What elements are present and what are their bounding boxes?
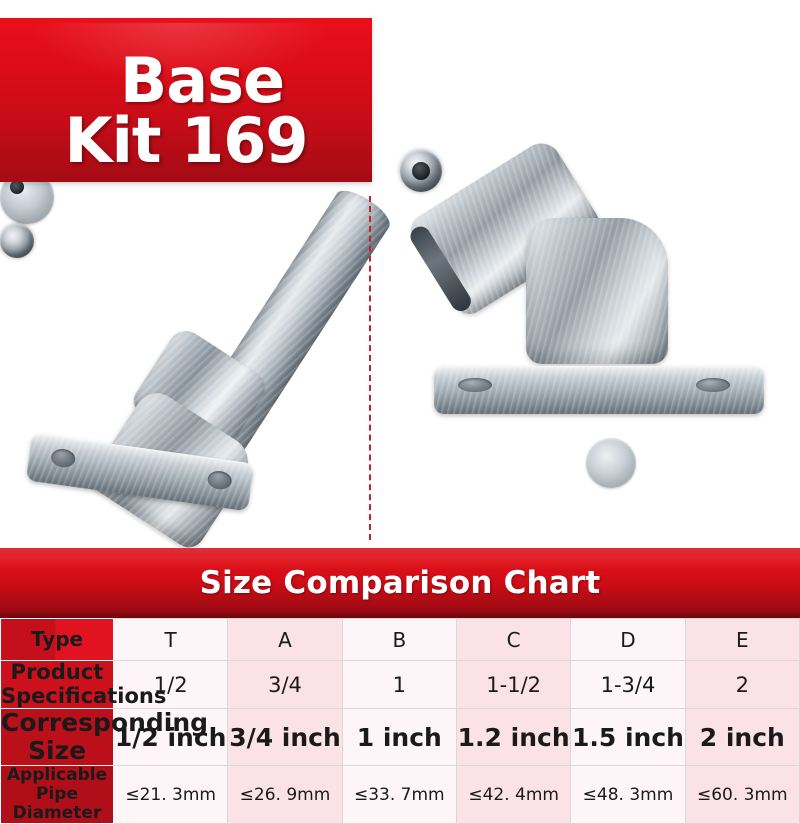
title-banner: Base Kit 169 xyxy=(0,18,372,182)
mounting-hole xyxy=(207,470,233,491)
cell-spec-e: 2 xyxy=(685,661,799,709)
mounting-hole xyxy=(50,448,76,469)
row-label-product-specifications: Product Specifications xyxy=(1,661,114,709)
cell-type-b: B xyxy=(342,619,456,661)
table-row: Product Specifications 1/2 3/4 1 1-1/2 1… xyxy=(1,661,800,709)
cell-size-d: 1.5 inch xyxy=(571,709,685,766)
cell-spec-b: 1 xyxy=(342,661,456,709)
banner-title-line-1: Base xyxy=(0,50,388,112)
set-screw-icon xyxy=(0,224,34,258)
cell-diameter-b: ≤33. 7mm xyxy=(342,766,456,824)
set-screw-icon xyxy=(400,150,442,192)
cell-type-e: E xyxy=(685,619,799,661)
mounting-hole xyxy=(458,378,492,392)
base-flange-plate xyxy=(434,366,764,414)
size-chart-header: Size Comparison Chart xyxy=(0,548,800,618)
cell-diameter-d: ≤48. 3mm xyxy=(571,766,685,824)
mounting-hole xyxy=(696,378,730,392)
row-label-applicable-pipe-diameter: Applicable Pipe Diameter xyxy=(1,766,114,824)
size-comparison-table: Type T A B C D E Product Specifications … xyxy=(0,618,800,824)
table-row: Applicable Pipe Diameter ≤21. 3mm ≤26. 9… xyxy=(1,766,800,824)
cell-size-e: 2 inch xyxy=(685,709,799,766)
product-image-left xyxy=(0,170,372,540)
product-photo-area: Base Kit 169 xyxy=(0,0,800,548)
cell-type-d: D xyxy=(571,619,685,661)
row-label-type: Type xyxy=(1,619,114,661)
photo-divider xyxy=(369,196,371,540)
product-image-right xyxy=(400,150,800,450)
banner-title-line-2: Kit 169 xyxy=(0,110,372,172)
sleeve-bore xyxy=(407,223,475,315)
table-row: Corresponding Size 1/2 inch 3/4 inch 1 i… xyxy=(1,709,800,766)
cell-spec-c: 1-1/2 xyxy=(456,661,570,709)
cell-diameter-a: ≤26. 9mm xyxy=(228,766,342,824)
cell-size-b: 1 inch xyxy=(342,709,456,766)
cell-size-a: 3/4 inch xyxy=(228,709,342,766)
cell-spec-d: 1-3/4 xyxy=(571,661,685,709)
size-chart-title: Size Comparison Chart xyxy=(200,565,601,601)
swivel-knuckle xyxy=(526,218,668,364)
cell-diameter-e: ≤60. 3mm xyxy=(685,766,799,824)
cell-type-a: A xyxy=(228,619,342,661)
cell-spec-a: 3/4 xyxy=(228,661,342,709)
cell-size-c: 1.2 inch xyxy=(456,709,570,766)
cell-diameter-t: ≤21. 3mm xyxy=(114,766,228,824)
cell-type-t: T xyxy=(114,619,228,661)
row-label-corresponding-size: Corresponding Size xyxy=(1,709,114,766)
cell-type-c: C xyxy=(456,619,570,661)
cell-diameter-c: ≤42. 4mm xyxy=(456,766,570,824)
table-row: Type T A B C D E xyxy=(1,619,800,661)
pivot-boss xyxy=(586,438,636,488)
